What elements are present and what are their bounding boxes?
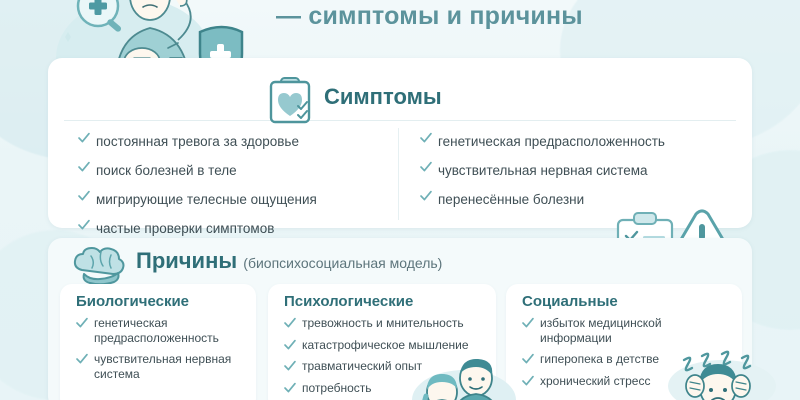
list-item: катастрофическое мышление <box>284 338 492 353</box>
list-item: избыток медицинской информации <box>522 316 734 345</box>
list-item: перенесённые болезни <box>420 189 720 210</box>
list-item: постоянная тревога за здоровье <box>78 131 388 152</box>
symptoms-heading: Симптомы <box>324 84 442 110</box>
symptoms-list-left: постоянная тревога за здоровье поиск бол… <box>78 131 388 247</box>
causes-heading: Причины (биопсихосоциальная модель) <box>136 248 442 274</box>
check-icon <box>522 317 534 329</box>
check-icon <box>284 382 296 394</box>
check-icon <box>78 219 90 231</box>
check-icon <box>284 339 296 351</box>
list-item-label: чувствительная нервная система <box>438 163 648 178</box>
list-item-label: хронический стресс <box>540 374 650 388</box>
list-item-label: тревожность и мнительность <box>302 316 464 330</box>
list-item: частые проверки симптомов <box>78 218 388 239</box>
check-icon <box>78 190 90 202</box>
causes-subtitle: (биопсихосоциальная модель) <box>243 255 442 271</box>
infographic-page: — симптомы и причины Симптомы постоянная… <box>0 0 800 400</box>
list-item-label: частые проверки симптомов <box>96 221 274 236</box>
page-title: — симптомы и причины <box>276 2 583 31</box>
stressed-woman-illustration <box>668 344 788 400</box>
check-icon <box>76 317 88 329</box>
list-item: генетическая предрасположенность <box>420 131 720 152</box>
list-item-label: мигрирующие телесные ощущения <box>96 192 317 207</box>
list-item-label: избыток медицинской информации <box>540 316 662 345</box>
check-icon <box>284 360 296 372</box>
list-item: генетическая предрасположенность <box>76 316 248 345</box>
check-icon <box>420 190 432 202</box>
clipboard-heart-icon <box>268 76 312 124</box>
causes-list-biological: генетическая предрасположенность чувстви… <box>76 316 248 388</box>
list-item: чувствительная нервная система <box>76 352 248 381</box>
brain-icon <box>70 246 128 286</box>
list-item-label: перенесённые болезни <box>438 192 584 207</box>
list-item-label: генетическая предрасположенность <box>94 316 219 345</box>
list-item-label: катастрофическое мышление <box>302 338 469 352</box>
list-item-label: чувствительная нервная система <box>94 352 231 381</box>
list-item-label: гиперопека в детстве <box>540 352 659 366</box>
check-icon <box>420 161 432 173</box>
check-icon <box>78 132 90 144</box>
list-item-label: постоянная тревога за здоровье <box>96 134 299 149</box>
check-icon <box>420 132 432 144</box>
list-item: мигрирующие телесные ощущения <box>78 189 388 210</box>
list-item: поиск болезней в теле <box>78 160 388 181</box>
column-title-biological: Биологические <box>76 293 189 310</box>
check-icon <box>76 353 88 365</box>
couple-illustration <box>404 356 524 400</box>
causes-heading-label: Причины <box>136 248 237 273</box>
symptoms-list-right: генетическая предрасположенность чувстви… <box>420 131 720 218</box>
list-item-label: поиск болезней в теле <box>96 163 237 178</box>
check-icon <box>78 161 90 173</box>
symptoms-column-divider <box>398 128 399 220</box>
check-icon <box>284 317 296 329</box>
symptoms-divider <box>64 120 736 121</box>
column-title-psychological: Психологические <box>284 293 413 310</box>
list-item-label: потребность <box>302 381 372 395</box>
list-item: чувствительная нервная система <box>420 160 720 181</box>
column-title-social: Социальные <box>522 293 618 310</box>
list-item: тревожность и мнительность <box>284 316 492 331</box>
list-item-label: генетическая предрасположенность <box>438 134 665 149</box>
